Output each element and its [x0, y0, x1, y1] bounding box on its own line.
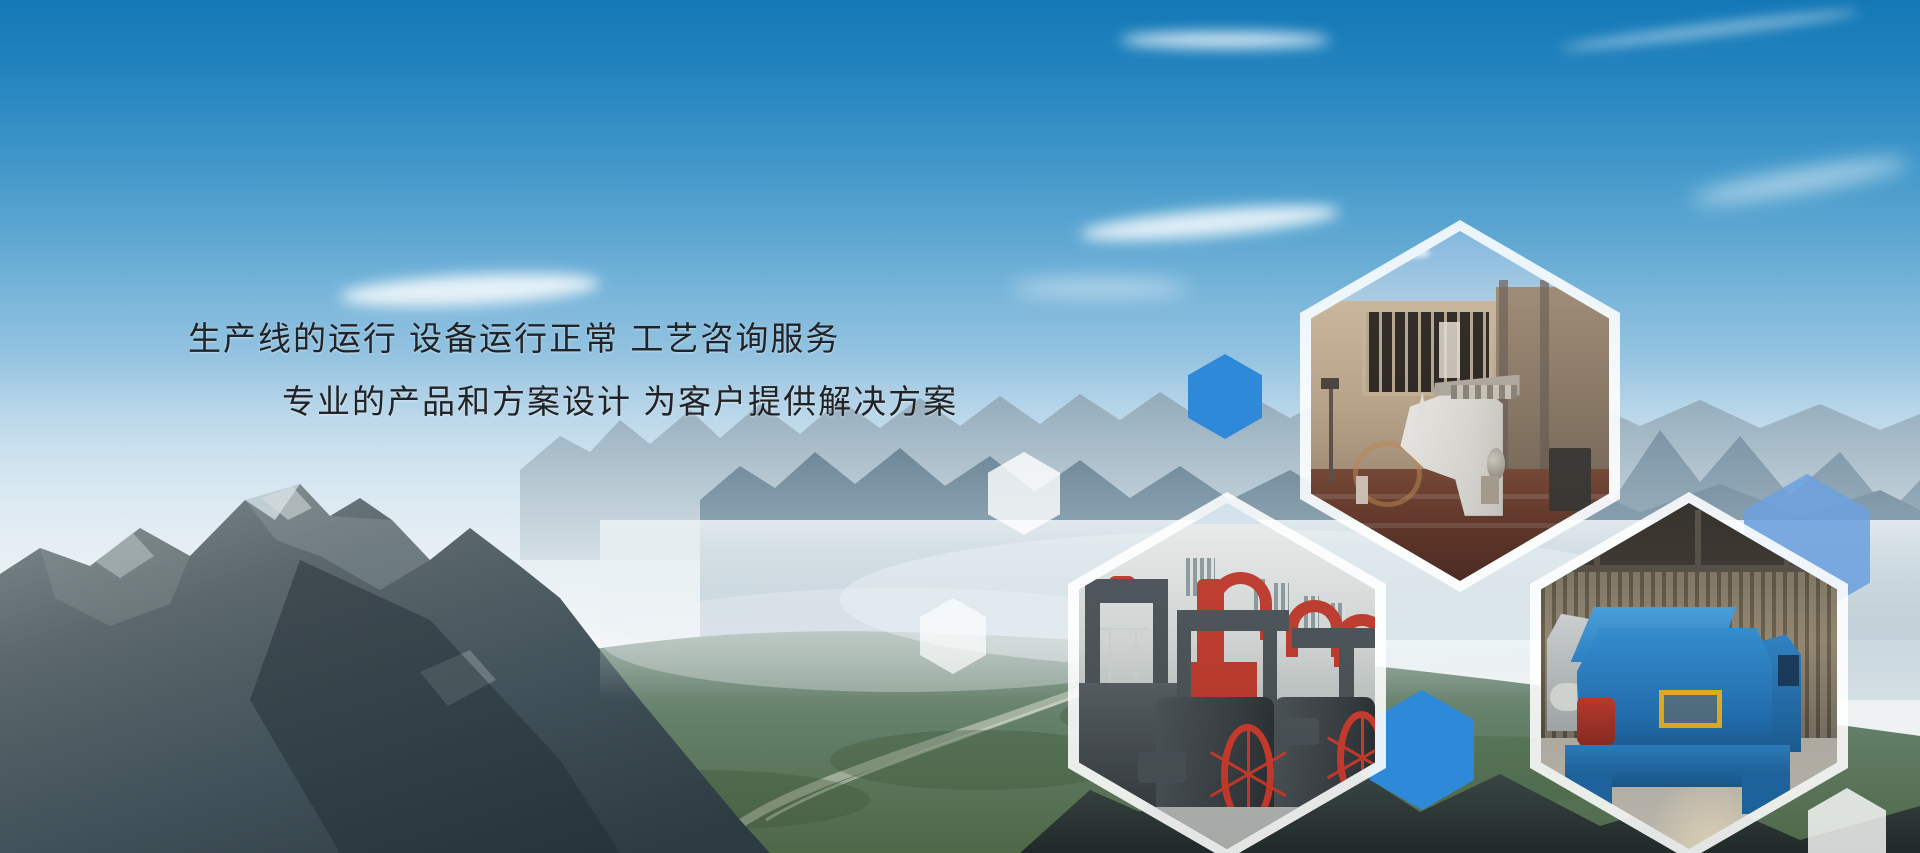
hex-white-lower [920, 598, 986, 674]
hex-photo-right-inner [1541, 503, 1837, 849]
photo3-tint [1541, 503, 1837, 849]
photo-blue-shredder [1541, 503, 1837, 849]
hex-white-upper [988, 452, 1060, 535]
hex-blue-mid [1188, 354, 1262, 439]
photo-outdoor-separator [1311, 231, 1609, 581]
photo-grey-press-line [1079, 503, 1375, 849]
hex-white-corner [1808, 788, 1886, 853]
photo1-tint [1311, 231, 1609, 581]
photo1-cloud [1335, 263, 1383, 275]
photo2-tint [1079, 503, 1375, 849]
hex-photo-top-inner [1311, 231, 1609, 581]
hex-photo-top[interactable] [1300, 220, 1620, 592]
hero-banner: 生产线的运行 设备运行正常 工艺咨询服务 专业的产品和方案设计 为客户提供解决方… [0, 0, 1920, 853]
hex-photo-middle-inner [1079, 503, 1375, 849]
hexagon-cluster [0, 0, 1920, 853]
hex-photo-middle[interactable] [1068, 492, 1386, 853]
